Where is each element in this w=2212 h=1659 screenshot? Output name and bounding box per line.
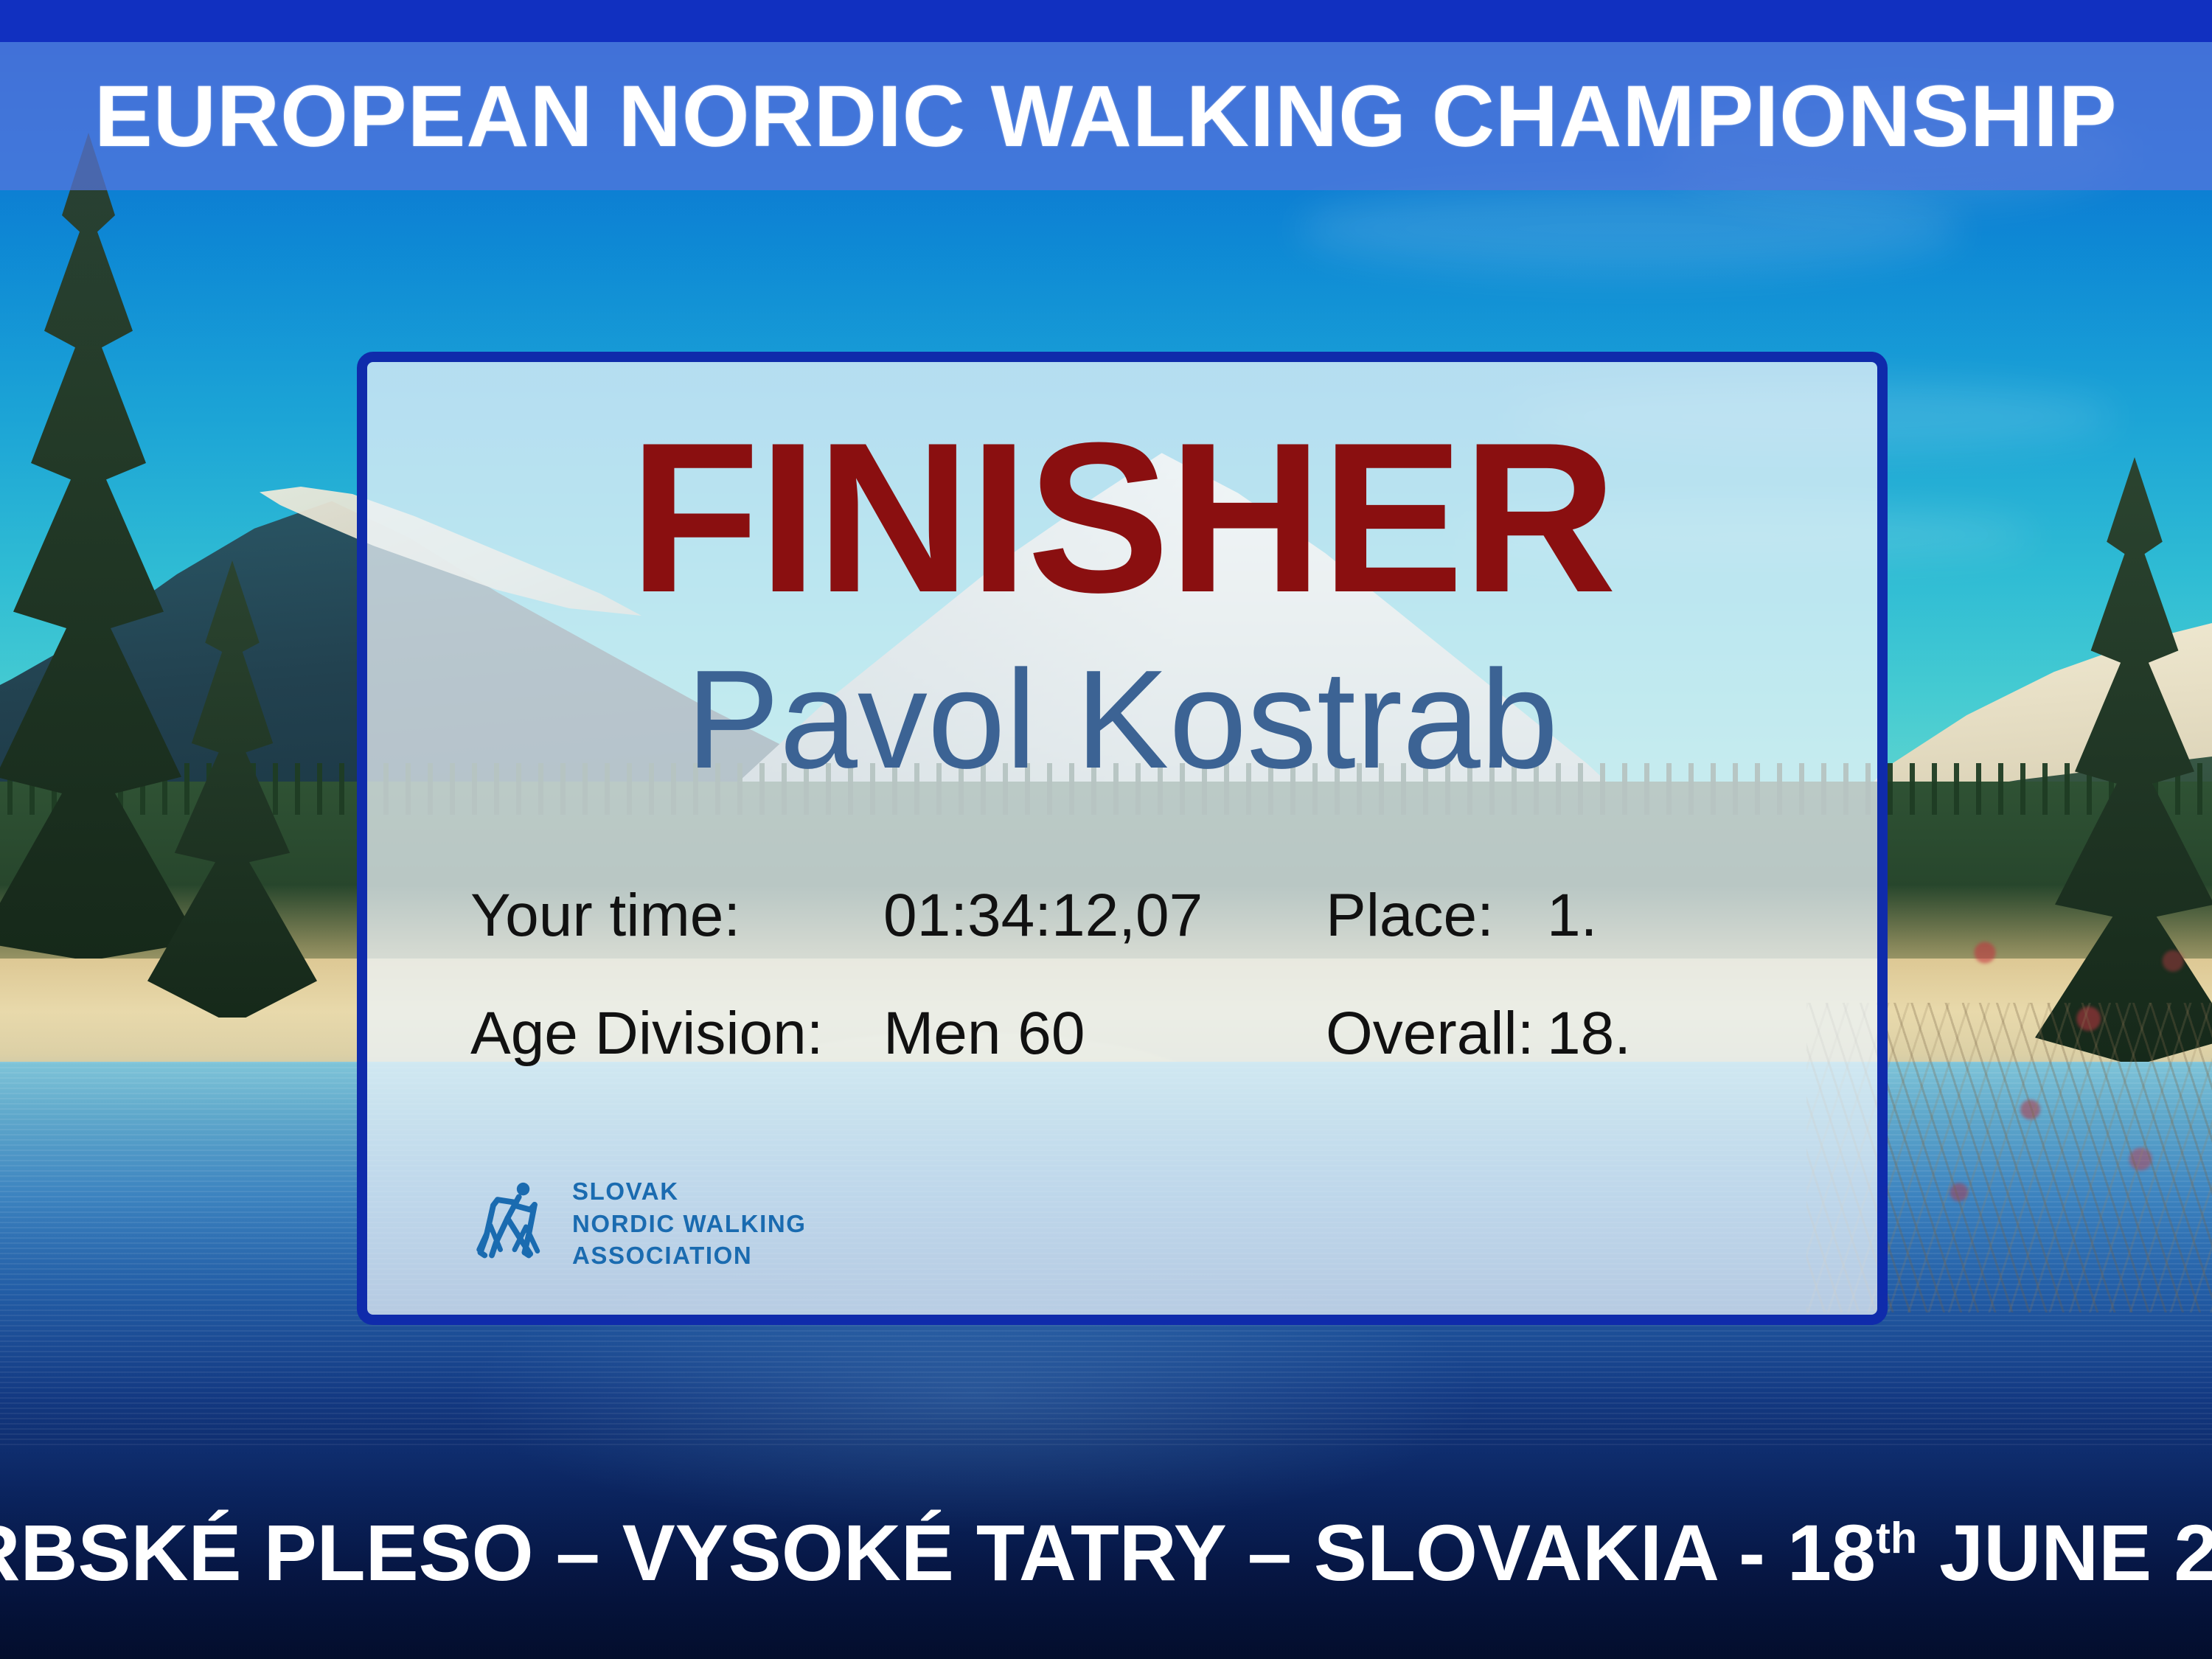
association-logo-text: SLOVAK NORDIC WALKING ASSOCIATION bbox=[572, 1175, 807, 1272]
association-logo: SLOVAK NORDIC WALKING ASSOCIATION bbox=[470, 1175, 807, 1272]
overall-label: Overall: bbox=[1326, 1004, 1547, 1064]
result-stats: Your time: 01:34:12,07 Place: 1. Age Div… bbox=[470, 886, 1789, 1121]
your-time-label: Your time: bbox=[470, 886, 883, 946]
place-value: 1. bbox=[1547, 886, 1597, 946]
age-division-label: Age Division: bbox=[470, 1004, 883, 1064]
stat-row-division: Age Division: Men 60 Overall: 18. bbox=[470, 1004, 1789, 1121]
logo-line-2: NORDIC WALKING bbox=[572, 1208, 807, 1240]
athlete-name: Pavol Kostrab bbox=[367, 650, 1877, 790]
stat-row-time: Your time: 01:34:12,07 Place: 1. bbox=[470, 886, 1789, 1004]
top-solid-strip bbox=[0, 0, 2212, 42]
event-location-date: ŠTRBSKÉ PLESO – VYSOKÉ TATRY – SLOVAKIA … bbox=[0, 1513, 2212, 1593]
your-time-value: 01:34:12,07 bbox=[883, 886, 1326, 946]
header-banner: EUROPEAN NORDIC WALKING CHAMPIONSHIP bbox=[0, 42, 2212, 190]
page-title: EUROPEAN NORDIC WALKING CHAMPIONSHIP bbox=[94, 73, 2118, 160]
ordinal-suffix: th bbox=[1876, 1513, 1917, 1562]
event-location-date-prefix: ŠTRBSKÉ PLESO – VYSOKÉ TATRY – SLOVAKIA … bbox=[0, 1508, 1876, 1597]
status-badge-finisher: FINISHER bbox=[367, 411, 1877, 625]
event-location-date-rest: JUNE 2016 bbox=[1917, 1508, 2212, 1597]
logo-line-3: ASSOCIATION bbox=[572, 1239, 807, 1272]
logo-line-1: SLOVAK bbox=[572, 1175, 807, 1208]
footer-banner: ŠTRBSKÉ PLESO – VYSOKÉ TATRY – SLOVAKIA … bbox=[0, 1475, 2212, 1659]
finisher-certificate-card: FINISHER Pavol Kostrab Your time: 01:34:… bbox=[357, 352, 1888, 1325]
overall-value: 18. bbox=[1547, 1004, 1631, 1064]
nordic-walker-icon bbox=[470, 1181, 556, 1267]
place-label: Place: bbox=[1326, 886, 1547, 946]
certificate-image: EUROPEAN NORDIC WALKING CHAMPIONSHIP FIN… bbox=[0, 0, 2212, 1659]
age-division-value: Men 60 bbox=[883, 1004, 1326, 1064]
